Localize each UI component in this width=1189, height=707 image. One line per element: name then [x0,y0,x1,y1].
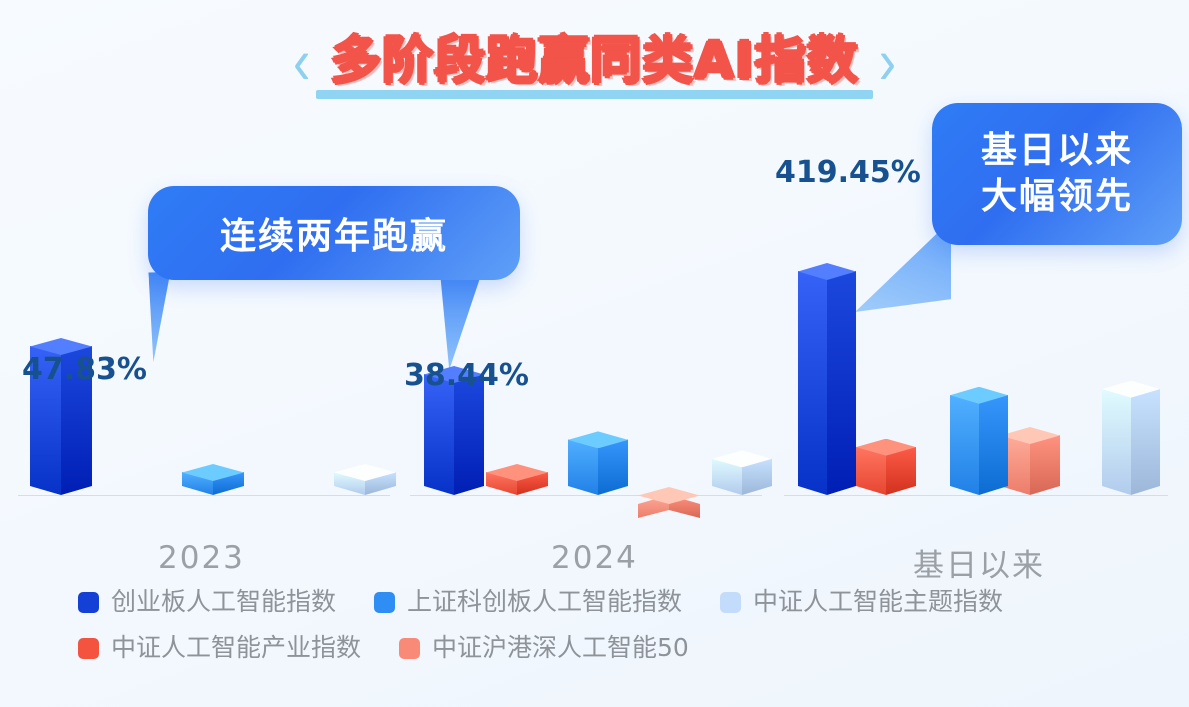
bar-3-2 [950,387,1008,495]
bar-1-4 [486,464,548,495]
title-banner: ‹ 多阶段跑赢同类AI指数 › [0,34,1189,90]
title-text: 多阶段跑赢同类AI指数 [330,32,858,91]
legend-swatch-icon [374,592,395,613]
legend-item-1-3[interactable]: 中证人工智能主题指数 [720,588,1003,616]
bar-1-3 [334,464,396,495]
legend-row-1: 创业板人工智能指数上证科创板人工智能指数中证人工智能主题指数 [78,588,1118,616]
axis-baseline-2024 [410,495,762,496]
bar-face-left [950,395,979,495]
bar-face-right [1030,435,1060,495]
legend-label: 中证沪港深人工智能50 [432,634,689,662]
legend-label: 中证人工智能产业指数 [111,634,361,662]
bar-face-right [1131,389,1160,495]
right-chevron-icon: › [879,30,896,95]
bar-2-3 [712,450,772,495]
legend-row-2: 中证人工智能产业指数中证沪港深人工智能50 [78,634,1118,662]
bar-1-2 [182,464,244,495]
bar-2-4 [856,439,916,495]
legend-item-1-1[interactable]: 创业板人工智能指数 [78,588,336,616]
bar-3-3 [1102,381,1160,495]
group-label-since-base: 基日以来 [913,540,1045,585]
legend-label: 创业板人工智能指数 [111,588,336,616]
value-label-2024: 38.44% [404,358,529,393]
callout-two-years: 连续两年跑赢 [148,186,520,280]
legend-swatch-icon [720,592,741,613]
legend-label: 中证人工智能主题指数 [753,588,1003,616]
bar-face-left [798,271,827,495]
bar-face-right [598,439,628,495]
callout-two-years-text: 连续两年跑赢 [220,207,448,259]
title-underline [316,90,872,99]
bar-face-left [568,439,598,495]
axis-baseline-2023 [18,495,390,496]
legend: 创业板人工智能指数上证科创板人工智能指数中证人工智能主题指数 中证人工智能产业指… [78,588,1118,680]
legend-swatch-icon [78,638,99,659]
legend-item-1-2[interactable]: 上证科创板人工智能指数 [374,588,682,616]
bar-3-1 [798,263,856,495]
bar-1-5 [638,487,700,518]
legend-swatch-icon [78,592,99,613]
left-chevron-icon: ‹ [293,30,310,95]
bar-2-2 [568,431,628,495]
legend-swatch-icon [399,638,420,659]
callout-since-base-line-1: 基日以来 [981,128,1133,174]
plot-area [0,300,1189,540]
legend-label: 上证科创板人工智能指数 [407,588,682,616]
callout-since-base: 基日以来 大幅领先 [932,103,1182,245]
legend-item-2-1[interactable]: 中证人工智能产业指数 [78,634,361,662]
callout-since-base-text: 基日以来 大幅领先 [981,128,1133,220]
bar-2-5 [1000,427,1060,495]
page-title: 多阶段跑赢同类AI指数 [324,34,864,90]
chart-infographic: ‹ 多阶段跑赢同类AI指数 › 连续两年跑赢 基日以来 大幅领先 2023 20… [0,0,1189,707]
bar-face-right [979,395,1008,495]
bar-face-right [827,271,856,495]
legend-item-2-2[interactable]: 中证沪港深人工智能50 [399,634,689,662]
callout-since-base-line-2: 大幅领先 [981,174,1133,220]
group-label-2023: 2023 [158,540,245,576]
value-label-2023: 47.83% [22,352,147,387]
value-label-since-base: 419.45% [775,155,921,190]
axis-baseline-since-base [784,495,1168,496]
group-label-2024: 2024 [551,540,638,576]
bar-face-left [1102,389,1131,495]
